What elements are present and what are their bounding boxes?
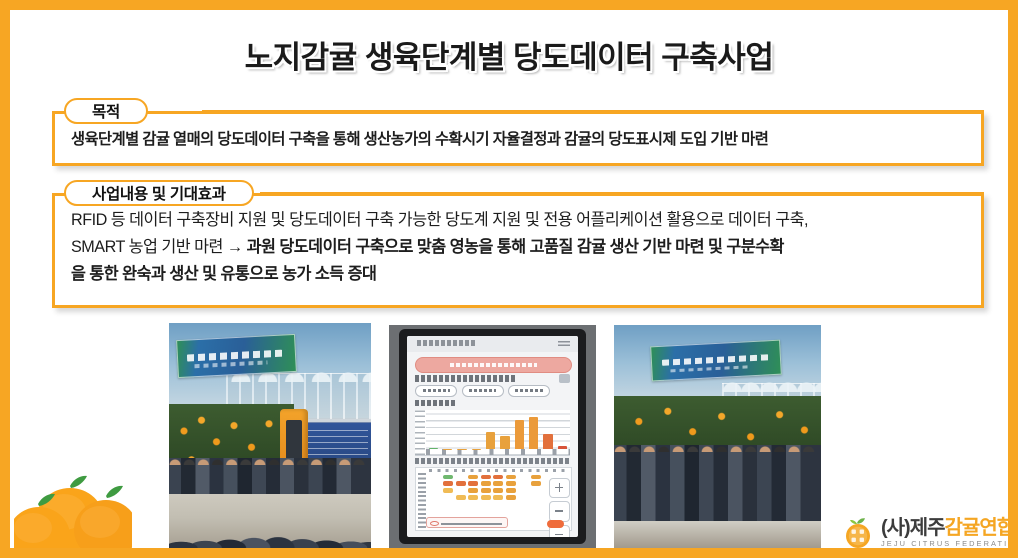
heatmap-cell[interactable]	[443, 488, 453, 493]
orchard-event-photo-content	[169, 323, 371, 548]
chart-bar	[472, 449, 481, 450]
heatmap-column-header	[429, 469, 568, 472]
tablet-app-photo-content	[389, 325, 596, 548]
section-content-lines: RFID 등 데이터 구축장비 지원 및 당도데이터 구축 가능한 당도계 지원…	[71, 204, 967, 288]
chart-x-axis	[426, 449, 569, 454]
event-banner	[176, 333, 297, 377]
event-banner	[650, 339, 782, 381]
calendar-icon[interactable]	[559, 374, 569, 383]
zoom-out-tool[interactable]	[549, 501, 570, 522]
content-line-2-bold: 과원 당도데이터 구축으로 맞춤 영농을 통해 고품질 감귤 생산 기반 마련 …	[247, 238, 784, 256]
chart-bar	[486, 432, 495, 449]
chart-bar	[529, 417, 538, 449]
heatmap-cell[interactable]	[506, 495, 516, 500]
page-title-wrap: 노지감귤 생육단계별 당도데이터 구축사업	[10, 32, 1008, 77]
heatmap-cell[interactable]	[506, 475, 516, 480]
crowd-region	[169, 476, 371, 548]
section-content-body: RFID 등 데이터 구축장비 지원 및 당도데이터 구축 가능한 당도계 지원…	[52, 193, 984, 308]
chart-bar	[515, 420, 524, 449]
citrus-logo-icon	[842, 516, 876, 550]
tablet-app-photo	[389, 325, 596, 548]
heatmap-cell[interactable]	[531, 475, 541, 480]
zoom-in-tool[interactable]	[549, 478, 570, 499]
app-chart-subtitle	[415, 400, 456, 406]
chart-y-axis	[415, 410, 424, 454]
orchard-event-photo	[169, 323, 371, 548]
logo-text-block: (사)제주감귤연합회 JEJU CITRUS FEDERATION	[881, 518, 1018, 547]
section-purpose-body: 생육단계별 감귤 열매의 당도데이터 구축을 통해 생산농가의 수확시기 자율결…	[52, 111, 984, 166]
heatmap-cell[interactable]	[468, 475, 478, 480]
group-row	[614, 445, 821, 521]
logo-subtitle: JEJU CITRUS FEDERATION	[881, 540, 1018, 547]
heatmap-cell[interactable]	[468, 481, 478, 486]
chart-bar	[543, 434, 552, 449]
tangerine-decoration	[14, 462, 132, 558]
heatmap-cell[interactable]	[493, 481, 503, 486]
logo-name-highlight: 감귤연합회	[945, 517, 1018, 539]
footer-logo: (사)제주감귤연합회 JEJU CITRUS FEDERATION	[842, 510, 1018, 556]
filter-chip-3months[interactable]	[508, 385, 550, 397]
heatmap-row-header	[418, 473, 426, 528]
app-filter-chips	[415, 385, 569, 395]
chart-bar	[558, 446, 567, 449]
content-line-3: 을 통한 완숙과 생산 및 유통으로 농가 소득 증대	[71, 261, 967, 288]
section-content-tab: 사업내용 및 기대효과	[64, 180, 254, 206]
section-content-effects: 사업내용 및 기대효과 RFID 등 데이터 구축장비 지원 및 당도데이터 구…	[52, 180, 984, 308]
section-purpose: 목적 생육단계별 감귤 열매의 당도데이터 구축을 통해 생산농가의 수확시기 …	[52, 98, 984, 166]
content-line-2: SMART 농업 기반 마련 → 과원 당도데이터 구축으로 맞춤 영농을 통해…	[71, 234, 967, 261]
heatmap-cell[interactable]	[456, 481, 466, 486]
chart-bar	[457, 449, 466, 450]
heatmap-cell[interactable]	[468, 488, 478, 493]
heatmap-cell[interactable]	[493, 495, 503, 500]
filter-chip-1month[interactable]	[462, 385, 504, 397]
tablet-device	[399, 329, 585, 543]
heatmap-cell[interactable]	[531, 481, 541, 486]
heatmap-cell[interactable]	[468, 495, 478, 500]
heatmap-cell[interactable]	[481, 495, 491, 500]
chart-bar	[500, 436, 509, 450]
heatmap-cell[interactable]	[456, 495, 466, 500]
legend-info-icon	[430, 521, 439, 526]
heatmap-cell[interactable]	[493, 488, 503, 493]
content-line-1-regular: RFID 등 데이터 구축장비 지원 및 당도데이터 구축 가능한 당도계 지원…	[71, 211, 808, 229]
slide-frame: 노지감귤 생육단계별 당도데이터 구축사업 목적 생육단계별 감귤 열매의 당도…	[0, 0, 1018, 558]
section-purpose-tab: 목적	[64, 98, 148, 124]
app-header	[407, 336, 578, 352]
group-photo	[614, 325, 821, 548]
app-alert-banner[interactable]	[415, 357, 571, 373]
page-title: 노지감귤 생육단계별 당도데이터 구축사업	[245, 32, 774, 77]
app-header-title	[417, 340, 475, 346]
content-line-1: RFID 등 데이터 구축장비 지원 및 당도데이터 구축 가능한 당도계 지원…	[71, 207, 967, 234]
filter-chip-7days[interactable]	[415, 385, 457, 397]
sugar-distribution-bar-chart	[415, 410, 569, 455]
floating-action-button[interactable]	[547, 520, 564, 528]
heatmap-cell[interactable]	[443, 481, 453, 486]
heatmap-cell[interactable]	[481, 481, 491, 486]
app-note-text	[415, 458, 569, 464]
map-tools	[549, 478, 568, 537]
logo-name: (사)제주감귤연합회	[881, 518, 1018, 538]
app-screen	[407, 336, 578, 537]
app-date-range	[415, 375, 514, 382]
section-purpose-tab-label: 목적	[92, 100, 120, 122]
content-line-3-bold: 을 통한 완숙과 생산 및 유통으로 농가 소득 증대	[71, 265, 376, 283]
heatmap-cell[interactable]	[481, 475, 491, 480]
heatmap-cell[interactable]	[493, 475, 503, 480]
app-menu-icon[interactable]	[558, 340, 570, 346]
slide-canvas: 노지감귤 생육단계별 당도데이터 구축사업 목적 생육단계별 감귤 열매의 당도…	[10, 10, 1008, 548]
section-purpose-text: 생육단계별 감귤 열매의 당도데이터 구축을 통해 생산농가의 수확시기 자율결…	[71, 122, 967, 158]
orchard-block-heatmap	[415, 467, 571, 531]
heatmap-cell[interactable]	[506, 488, 516, 493]
heatmap-legend	[426, 517, 508, 528]
heatmap-cell[interactable]	[481, 488, 491, 493]
group-photo-content	[614, 325, 821, 548]
section-content-tab-label: 사업내용 및 기대효과	[92, 182, 226, 204]
heatmap-cell[interactable]	[506, 481, 516, 486]
content-line-2-regular: SMART 농업 기반 마련 →	[71, 238, 247, 256]
logo-name-prefix: (사)제주	[881, 517, 945, 539]
chart-bar	[443, 449, 452, 450]
heatmap-cell[interactable]	[443, 475, 453, 480]
